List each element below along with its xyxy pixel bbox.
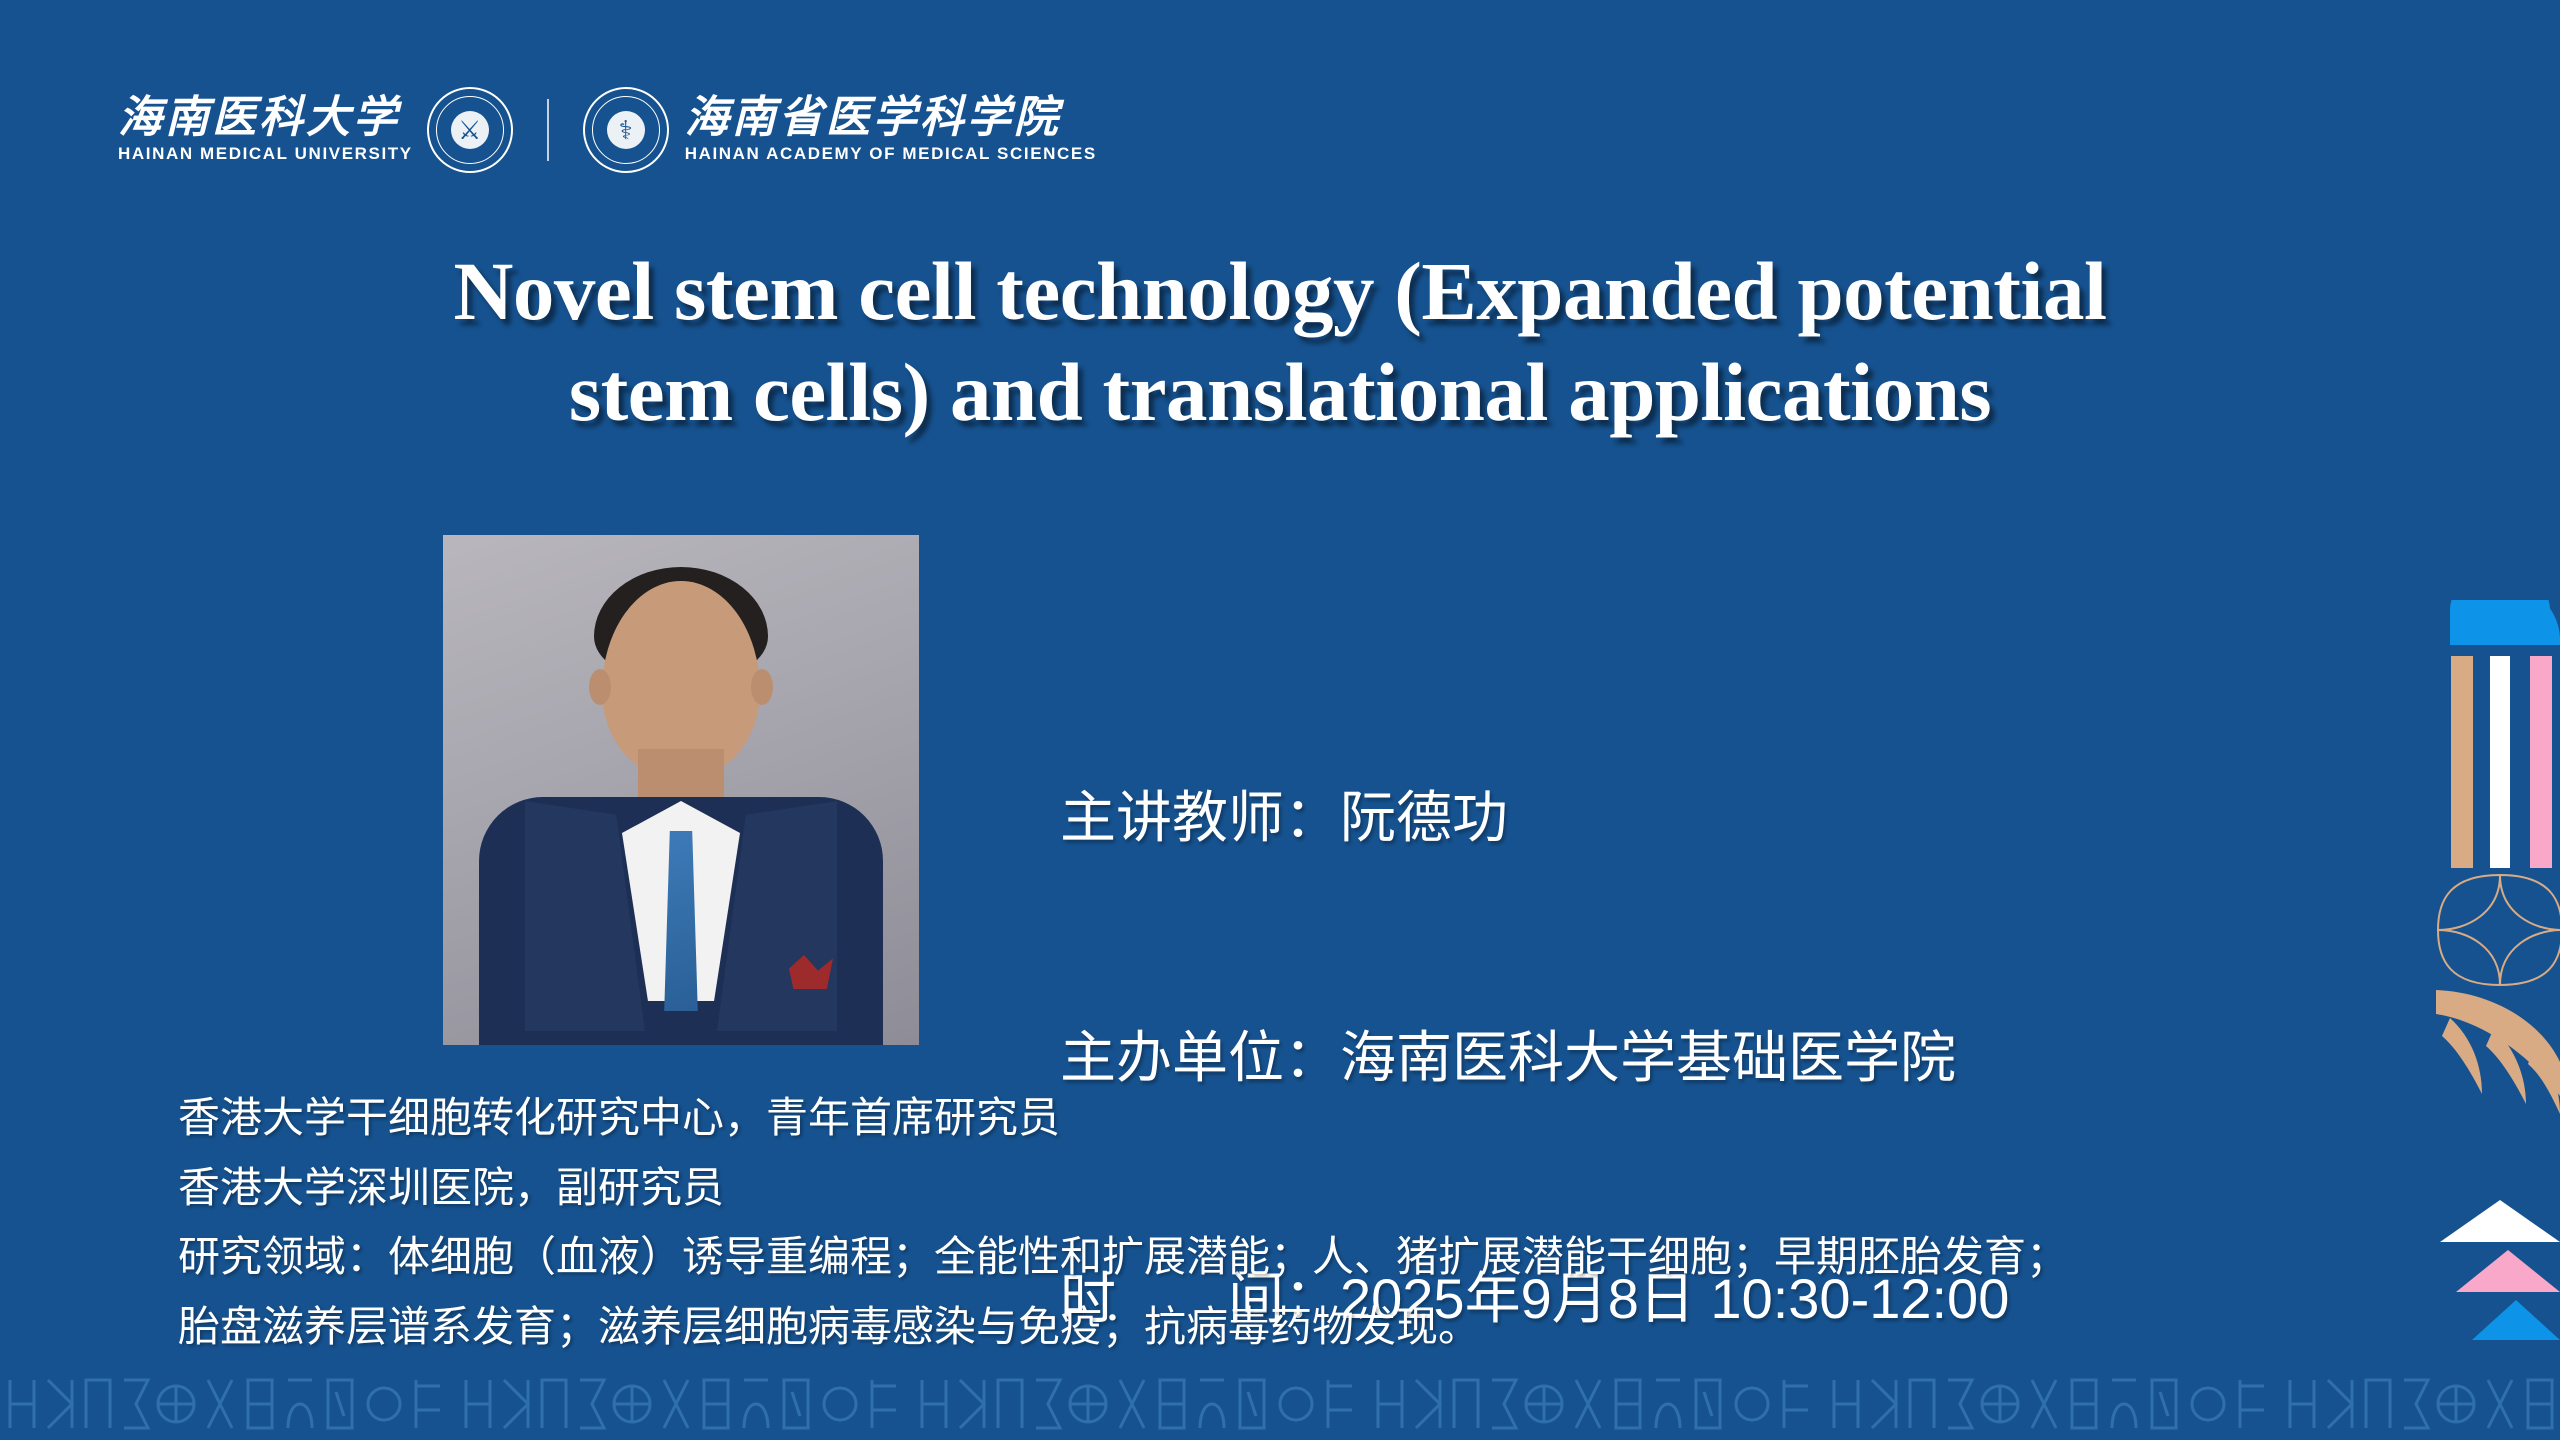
bio-line-1: 香港大学干细胞转化研究中心，青年首席研究员 <box>178 1085 2440 1155</box>
triangle-white-icon <box>2440 1200 2560 1242</box>
logo-hainan-academy-of-medical-sciences: ⚕ 海南省医学科学院 HAINAN ACADEMY OF MEDICAL SCI… <box>583 87 1097 173</box>
seal-emblem-icon: ⚔ <box>429 89 511 171</box>
detail-speaker: 主讲教师：阮德功 <box>1060 778 2009 858</box>
logo-text-block: 海南医科大学 HAINAN MEDICAL UNIVERSITY <box>118 95 413 165</box>
logo-divider <box>547 99 549 161</box>
triangle-pink-icon <box>2456 1250 2560 1292</box>
poster-root: 海南医科大学 HAINAN MEDICAL UNIVERSITY ⚔ ⚕ 海南省… <box>0 0 2560 1440</box>
decorative-column <box>2420 600 2560 1380</box>
university-seal-icon: ⚔ <box>427 87 513 173</box>
logo-chinese-name: 海南省医学科学院 <box>685 95 1097 141</box>
speaker-portrait <box>443 535 919 1045</box>
logo-english-name: HAINAN MEDICAL UNIVERSITY <box>118 144 413 164</box>
page-title: Novel stem cell technology (Expanded pot… <box>0 241 2560 444</box>
bio-line-4: 胎盘滋养层谱系发育；滋养层细胞病毒感染与免疫；抗病毒药物发现。 <box>178 1294 2440 1364</box>
bottom-pattern-strip <box>0 1366 2560 1440</box>
bar-white-icon <box>2490 656 2510 868</box>
logo-chinese-name: 海南医科大学 <box>118 95 413 141</box>
portrait-ear-left <box>589 669 611 705</box>
logo-hainan-medical-university: 海南医科大学 HAINAN MEDICAL UNIVERSITY ⚔ <box>118 87 513 173</box>
bio-line-3: 研究领域：体细胞（血液）诱导重编程；全能性和扩展潜能；人、猪扩展潜能干细胞；早期… <box>178 1224 2440 1294</box>
academy-seal-icon: ⚕ <box>583 87 669 173</box>
palm-frond-icon <box>2436 990 2560 1114</box>
bio-line-2: 香港大学深圳医院，副研究员 <box>178 1155 2440 1225</box>
seal-caduceus-icon: ⚕ <box>585 89 667 171</box>
title-line-1: Novel stem cell technology (Expanded pot… <box>110 241 2450 342</box>
ethnic-pattern-icon <box>0 1366 2560 1440</box>
speaker-biography: 香港大学干细胞转化研究中心，青年首席研究员 香港大学深圳医院，副研究员 研究领域… <box>178 1085 2440 1364</box>
logo-bar: 海南医科大学 HAINAN MEDICAL UNIVERSITY ⚔ ⚕ 海南省… <box>118 80 1097 180</box>
decorative-graphic-icon <box>2420 600 2560 1380</box>
logo-text-block: 海南省医学科学院 HAINAN ACADEMY OF MEDICAL SCIEN… <box>685 95 1097 165</box>
portrait-ear-right <box>751 669 773 705</box>
title-line-2: stem cells) and translational applicatio… <box>110 342 2450 443</box>
triangle-blue-icon <box>2472 1300 2560 1340</box>
bar-tan-icon <box>2451 656 2473 868</box>
bar-pink-icon <box>2530 656 2552 868</box>
flower-motif-icon <box>2438 875 2560 985</box>
logo-english-name: HAINAN ACADEMY OF MEDICAL SCIENCES <box>685 144 1097 164</box>
